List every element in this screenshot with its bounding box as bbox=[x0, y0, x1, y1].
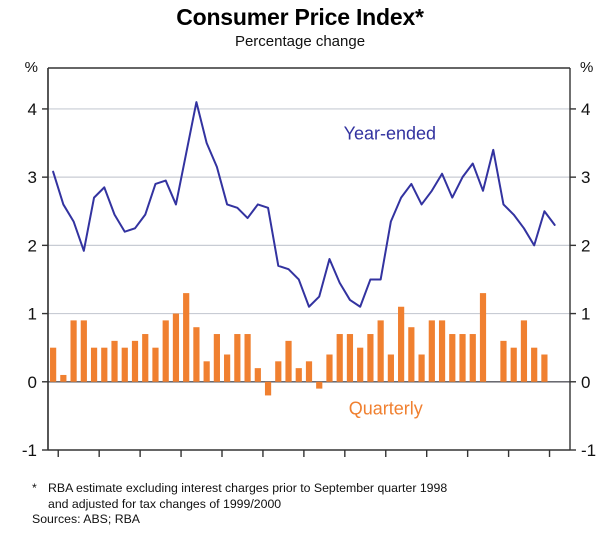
footnote-marker: * bbox=[32, 481, 37, 497]
quarterly-bar bbox=[500, 341, 506, 382]
quarterly-bar bbox=[480, 293, 486, 382]
ytick-label-left-1: 1 bbox=[28, 305, 37, 324]
footnote-star-row: * RBA estimate excluding interest charge… bbox=[32, 481, 592, 497]
quarterly-bar bbox=[449, 334, 455, 382]
quarterly-bar bbox=[347, 334, 353, 382]
quarterly-bar bbox=[418, 355, 424, 382]
quarterly-bar bbox=[429, 320, 435, 381]
quarterly-bar bbox=[459, 334, 465, 382]
quarterly-bar bbox=[367, 334, 373, 382]
quarterly-bar bbox=[408, 327, 414, 382]
footnote-line-1: RBA estimate excluding interest charges … bbox=[48, 481, 447, 495]
ytick-label-left-4: 4 bbox=[28, 100, 37, 119]
quarterly-bar bbox=[183, 293, 189, 382]
ytick-label-left--1: -1 bbox=[22, 441, 37, 458]
quarterly-bar bbox=[163, 320, 169, 381]
quarterly-bar bbox=[111, 341, 117, 382]
quarterly-bar bbox=[244, 334, 250, 382]
quarterly-bar bbox=[306, 361, 312, 381]
series-label-quarterly: Quarterly bbox=[349, 399, 423, 419]
quarterly-bar bbox=[204, 361, 210, 381]
quarterly-bar bbox=[60, 375, 66, 382]
quarterly-bar bbox=[91, 348, 97, 382]
ytick-label-right-0: 0 bbox=[581, 373, 590, 392]
quarterly-bar bbox=[296, 368, 302, 382]
quarterly-bar bbox=[541, 355, 547, 382]
footnote-sources: Sources: ABS; RBA bbox=[32, 512, 592, 528]
ytick-label-right--1: -1 bbox=[581, 441, 596, 458]
series-label-year-ended: Year-ended bbox=[344, 124, 436, 144]
quarterly-bar bbox=[275, 361, 281, 381]
quarterly-bar bbox=[521, 320, 527, 381]
quarterly-bar bbox=[224, 355, 230, 382]
consumer-price-index-chart: 19921995199820012004-1-10011223344%%Year… bbox=[0, 58, 600, 458]
ytick-label-left-0: 0 bbox=[28, 373, 37, 392]
y-axis-unit-right: % bbox=[580, 59, 593, 76]
quarterly-bar bbox=[511, 348, 517, 382]
footnote-line-2: and adjusted for tax changes of 1999/200… bbox=[32, 497, 592, 513]
ytick-label-right-3: 3 bbox=[581, 168, 590, 187]
ytick-label-right-1: 1 bbox=[581, 305, 590, 324]
quarterly-bar bbox=[316, 382, 322, 389]
quarterly-bar bbox=[101, 348, 107, 382]
quarterly-bar bbox=[388, 355, 394, 382]
chart-footnotes: * RBA estimate excluding interest charge… bbox=[32, 481, 592, 528]
quarterly-bar bbox=[142, 334, 148, 382]
quarterly-bar bbox=[265, 382, 271, 396]
chart-title: Consumer Price Index* bbox=[0, 4, 600, 31]
quarterly-bar bbox=[152, 348, 158, 382]
quarterly-bar bbox=[337, 334, 343, 382]
quarterly-bar bbox=[81, 320, 87, 381]
quarterly-bar bbox=[378, 320, 384, 381]
ytick-label-left-2: 2 bbox=[28, 236, 37, 255]
quarterly-bar bbox=[193, 327, 199, 382]
y-axis-unit-left: % bbox=[25, 59, 38, 76]
quarterly-bar bbox=[173, 314, 179, 382]
quarterly-bar bbox=[398, 307, 404, 382]
quarterly-bar bbox=[122, 348, 128, 382]
quarterly-bar bbox=[531, 348, 537, 382]
quarterly-bar bbox=[132, 341, 138, 382]
ytick-label-left-3: 3 bbox=[28, 168, 37, 187]
quarterly-bar bbox=[234, 334, 240, 382]
quarterly-bar bbox=[285, 341, 291, 382]
quarterly-bar bbox=[326, 355, 332, 382]
chart-page: Consumer Price Index* Percentage change … bbox=[0, 0, 600, 538]
quarterly-bar bbox=[255, 368, 261, 382]
year-ended-line bbox=[53, 102, 555, 307]
quarterly-bars-group bbox=[50, 293, 547, 395]
chart-subtitle: Percentage change bbox=[0, 33, 600, 50]
quarterly-bar bbox=[470, 334, 476, 382]
quarterly-bar bbox=[50, 348, 56, 382]
ytick-label-right-2: 2 bbox=[581, 236, 590, 255]
quarterly-bar bbox=[439, 320, 445, 381]
quarterly-bar bbox=[357, 348, 363, 382]
quarterly-bar bbox=[214, 334, 220, 382]
quarterly-bar bbox=[70, 320, 76, 381]
chart-plot-area: 19921995199820012004-1-10011223344%%Year… bbox=[0, 58, 600, 458]
ytick-label-right-4: 4 bbox=[581, 100, 590, 119]
